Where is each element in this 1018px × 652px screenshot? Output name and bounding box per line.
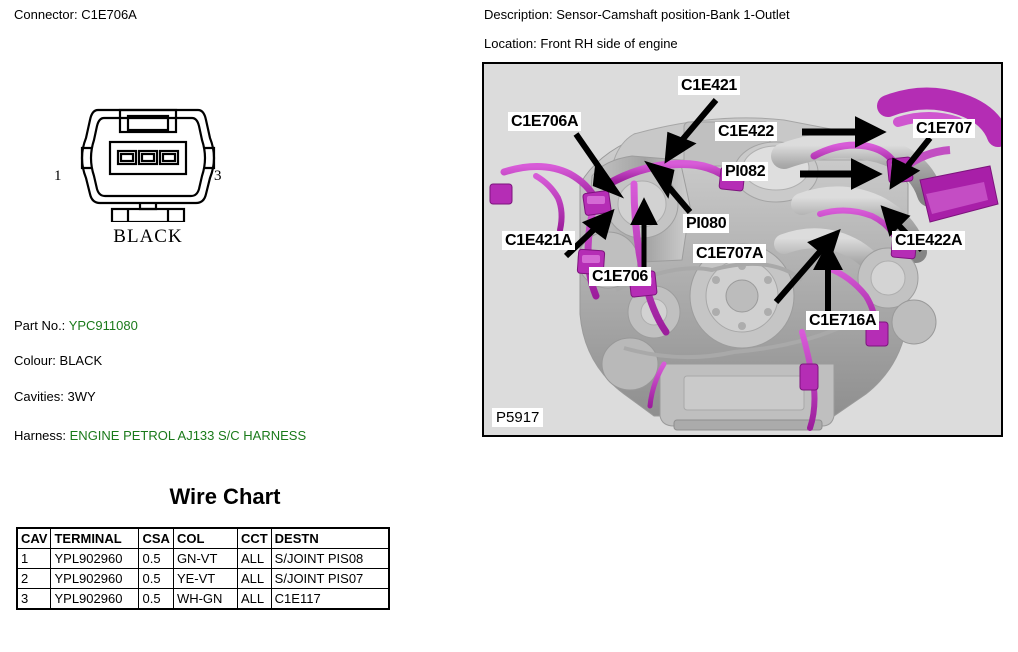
column-header-destn: DESTN: [271, 528, 389, 549]
harness-label: Harness:: [14, 428, 70, 443]
connector-heading: Connector: C1E706A: [14, 7, 137, 23]
callout-pi082: PI082: [722, 162, 768, 181]
pin-number-1: 1: [54, 168, 62, 185]
cell-destn: C1E117: [271, 589, 389, 610]
callout-c1e707: C1E707: [913, 119, 975, 138]
cell-cav: 3: [17, 589, 51, 610]
part-number-label: Part No.:: [14, 318, 69, 333]
callout-c1e706a: C1E706A: [508, 112, 581, 131]
cell-cav: 2: [17, 569, 51, 589]
column-header-col: COL: [173, 528, 237, 549]
cell-col: GN-VT: [173, 549, 237, 569]
cell-csa: 0.5: [139, 549, 173, 569]
column-header-cav: CAV: [17, 528, 51, 549]
colour-value: BLACK: [60, 353, 103, 368]
cell-cct: ALL: [237, 549, 271, 569]
cell-csa: 0.5: [139, 589, 173, 610]
callout-c1e422a: C1E422A: [892, 231, 965, 250]
column-header-terminal: TERMINAL: [51, 528, 139, 549]
column-header-csa: CSA: [139, 528, 173, 549]
table-row: 3 YPL902960 0.5 WH-GN ALL C1E117: [17, 589, 389, 610]
callout-c1e707a: C1E707A: [693, 244, 766, 263]
callout-c1e422: C1E422: [715, 122, 777, 141]
part-number-value: YPC911080: [69, 318, 138, 333]
cell-terminal: YPL902960: [51, 589, 139, 610]
harness-value: ENGINE PETROL AJ133 S/C HARNESS: [70, 428, 306, 443]
connector-outline-svg: [72, 104, 224, 222]
table-row: 1 YPL902960 0.5 GN-VT ALL S/JOINT PIS08: [17, 549, 389, 569]
harness-row: Harness: ENGINE PETROL AJ133 S/C HARNESS: [14, 428, 306, 444]
cell-cct: ALL: [237, 589, 271, 610]
cavities-label: Cavities:: [14, 389, 67, 404]
cell-col: YE-VT: [173, 569, 237, 589]
callout-c1e421a: C1E421A: [502, 231, 575, 250]
part-number-row: Part No.: YPC911080: [14, 318, 138, 334]
photo-reference-code: P5917: [492, 408, 543, 427]
callout-c1e421: C1E421: [678, 76, 740, 95]
table-row: 2 YPL902960 0.5 YE-VT ALL S/JOINT PIS07: [17, 569, 389, 589]
connector-colour-label: BLACK: [48, 226, 248, 248]
description-heading: Description: Sensor-Camshaft position-Ba…: [484, 7, 790, 23]
callout-c1e706: C1E706: [589, 267, 651, 286]
cavities-value: 3WY: [67, 389, 95, 404]
column-header-cct: CCT: [237, 528, 271, 549]
cell-cav: 1: [17, 549, 51, 569]
cell-terminal: YPL902960: [51, 569, 139, 589]
cell-col: WH-GN: [173, 589, 237, 610]
cell-cct: ALL: [237, 569, 271, 589]
cell-destn: S/JOINT PIS08: [271, 549, 389, 569]
callout-pi080: PI080: [683, 214, 729, 233]
location-heading: Location: Front RH side of engine: [484, 36, 678, 52]
cell-csa: 0.5: [139, 569, 173, 589]
cell-destn: S/JOINT PIS07: [271, 569, 389, 589]
colour-row: Colour: BLACK: [14, 353, 102, 369]
connector-face-diagram: 1 3: [48, 104, 248, 264]
engine-location-figure: C1E421 C1E706A C1E422 C1E707 PI082 PI080…: [482, 62, 1003, 437]
wire-chart-title: Wire Chart: [16, 484, 434, 510]
cell-terminal: YPL902960: [51, 549, 139, 569]
wire-chart-table: CAV TERMINAL CSA COL CCT DESTN 1 YPL9029…: [16, 527, 390, 610]
table-header-row: CAV TERMINAL CSA COL CCT DESTN: [17, 528, 389, 549]
callout-c1e716a: C1E716A: [806, 311, 879, 330]
colour-label: Colour:: [14, 353, 60, 368]
cavities-row: Cavities: 3WY: [14, 389, 96, 405]
